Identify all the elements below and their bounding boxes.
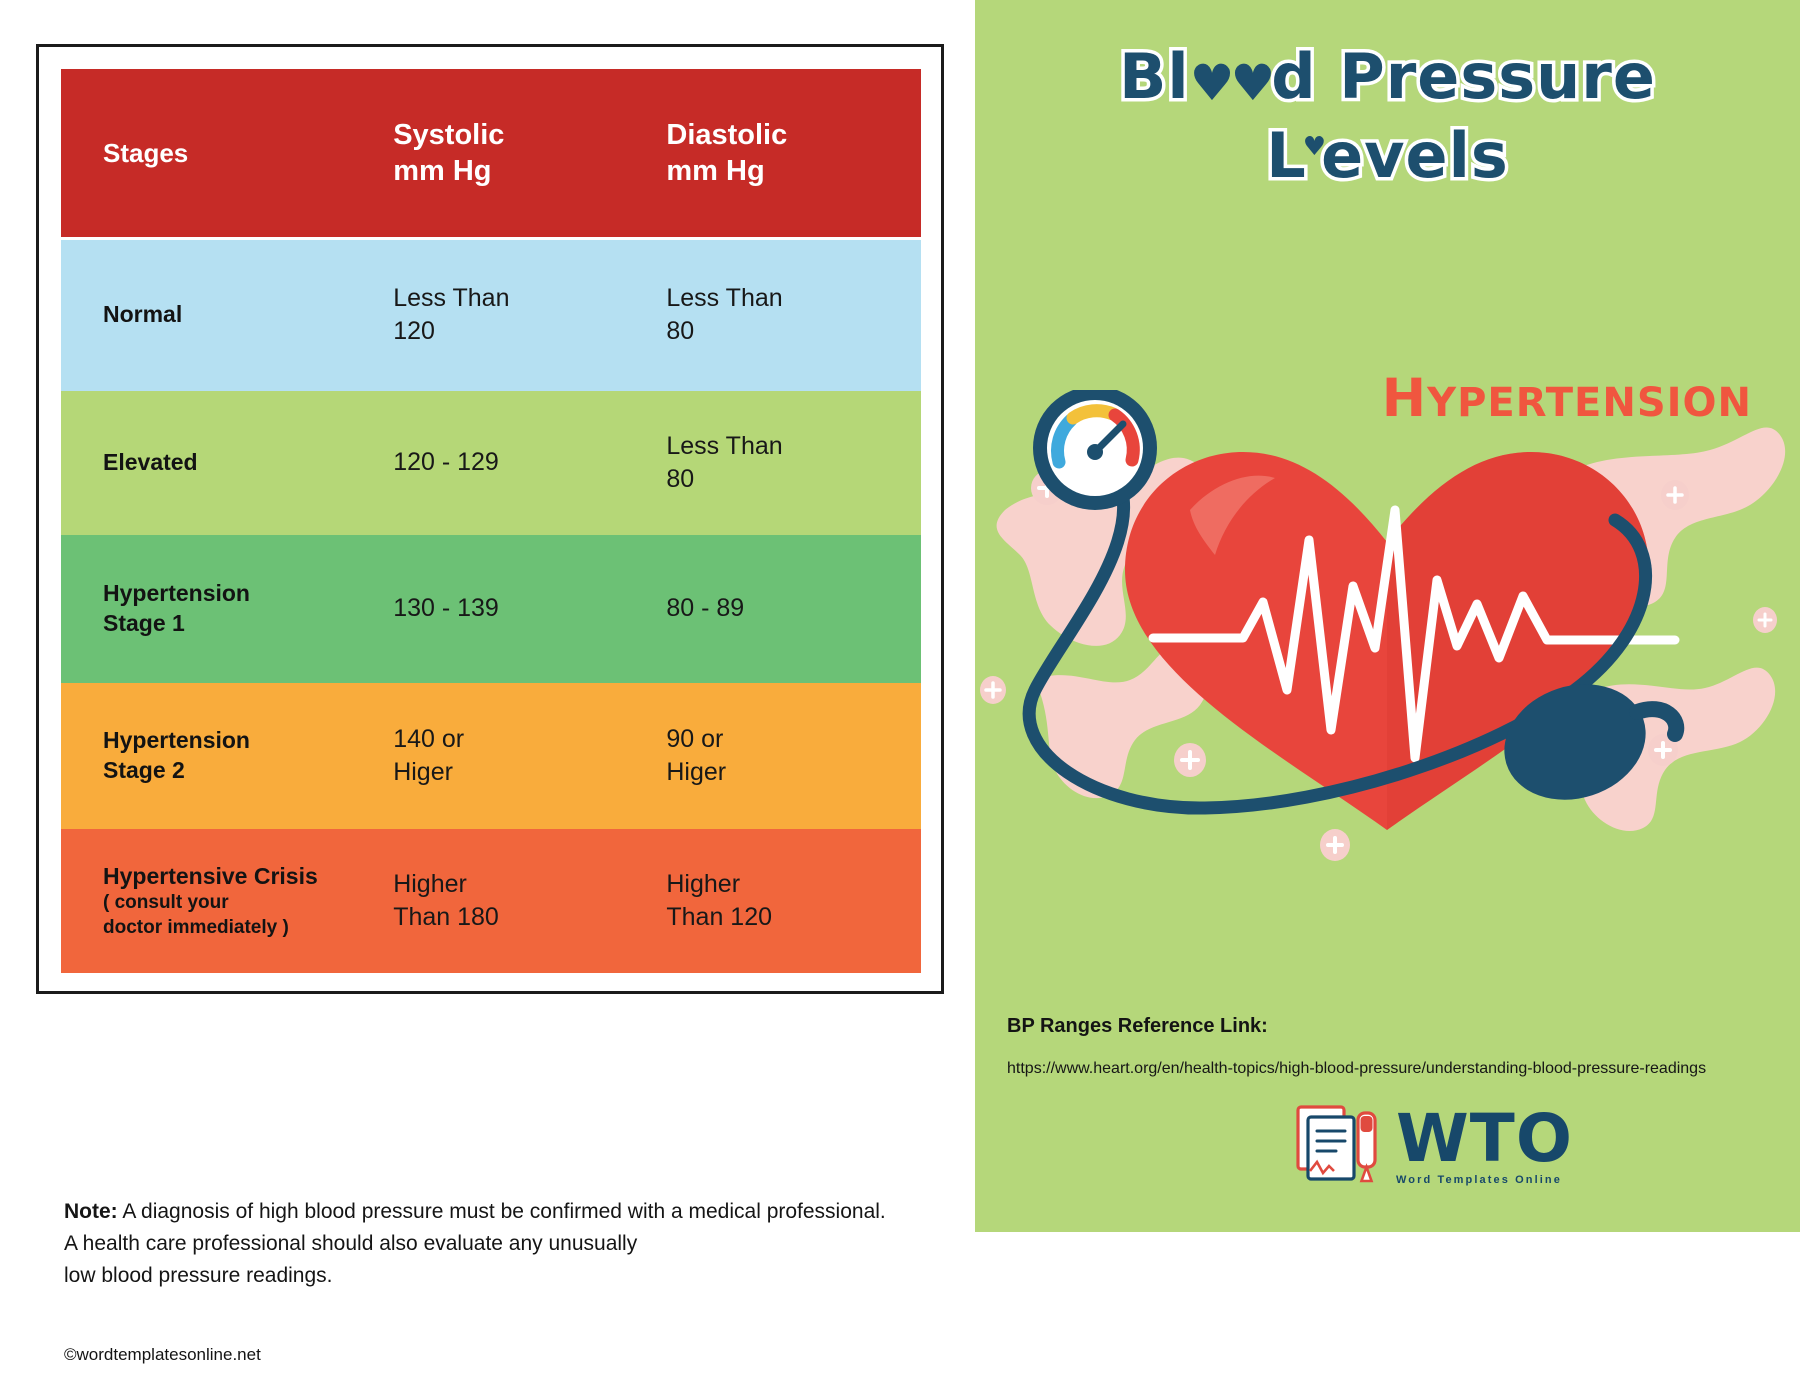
diastolic-line1: Less Than — [666, 430, 921, 463]
row-systolic: Higher Than 180 — [379, 868, 654, 934]
bp-table-frame: Stages Systolic mm Hg Diastolic mm Hg No… — [36, 44, 944, 994]
systolic-line1: 120 - 129 — [393, 446, 654, 479]
row-diastolic: Less Than 80 — [654, 430, 921, 496]
note-label: Note: — [64, 1200, 118, 1223]
stage-name: Hypertension — [103, 726, 379, 755]
poster-title: Bl♥♥d Pressure L♥evels — [975, 40, 1800, 192]
note-line1-text: A diagnosis of high blood pressure must … — [118, 1200, 886, 1223]
heart-illustration — [975, 390, 1800, 910]
stage-name: Hypertensive Crisis — [103, 862, 379, 891]
header-diastolic-line2: mm Hg — [666, 153, 921, 189]
table-row: Hypertensive Crisis ( consult your docto… — [61, 829, 921, 973]
gauge-arc-yellow — [1073, 411, 1113, 418]
stage-sub-line1: ( consult your — [103, 891, 379, 916]
header-diastolic: Diastolic mm Hg — [654, 117, 921, 190]
header-systolic-line2: mm Hg — [393, 153, 654, 189]
title-part-bl: Bl — [1119, 40, 1190, 113]
row-diastolic: 90 or Higer — [654, 723, 921, 789]
bp-table: Stages Systolic mm Hg Diastolic mm Hg No… — [61, 69, 921, 973]
diastolic-line1: 90 or — [666, 723, 921, 756]
wto-subtitle: Word Templates Online — [1396, 1174, 1573, 1186]
note-line1: Note: A diagnosis of high blood pressure… — [64, 1196, 894, 1228]
stage-sub: Stage 2 — [103, 756, 379, 785]
row-stage-label: Hypertensive Crisis ( consult your docto… — [61, 862, 379, 941]
wto-logo[interactable]: WTO Word Templates Online — [1290, 1092, 1710, 1202]
stage-name: Elevated — [103, 448, 379, 477]
row-diastolic: Higher Than 120 — [654, 868, 921, 934]
row-diastolic: 80 - 89 — [654, 592, 921, 625]
hypertension-heading: HYPERTENSION — [1382, 368, 1752, 429]
row-stage-label: Normal — [61, 300, 379, 329]
reference-title: BP Ranges Reference Link: — [1007, 1015, 1797, 1038]
diastolic-line1: Higher — [666, 868, 921, 901]
row-stage-label: Elevated — [61, 448, 379, 477]
diastolic-line2: Higer — [666, 756, 921, 789]
row-stage-label: Hypertension Stage 1 — [61, 579, 379, 638]
note-line3: low blood pressure readings. — [64, 1260, 894, 1292]
stage-sub-line2: doctor immediately ) — [103, 916, 379, 941]
note-line2: A health care professional should also e… — [64, 1228, 894, 1260]
systolic-line1: 130 - 139 — [393, 592, 654, 625]
header-systolic-line1: Systolic — [393, 117, 654, 153]
title-part-l: L — [1266, 119, 1307, 192]
table-row: Hypertension Stage 2 140 or Higer 90 or … — [61, 683, 921, 829]
table-row: Hypertension Stage 1 130 - 139 80 - 89 — [61, 535, 921, 683]
row-systolic: 130 - 139 — [379, 592, 654, 625]
title-part-evels: evels — [1321, 119, 1509, 192]
documents-icon — [1290, 1099, 1386, 1195]
systolic-line2: 120 — [393, 315, 654, 348]
table-header-row: Stages Systolic mm Hg Diastolic mm Hg — [61, 69, 921, 240]
systolic-line1: Less Than — [393, 282, 654, 315]
stage-name: Normal — [103, 300, 379, 329]
wto-text: WTO — [1396, 1108, 1573, 1171]
header-stages: Stages — [61, 137, 379, 170]
diastolic-line2: 80 — [666, 315, 921, 348]
header-systolic: Systolic mm Hg — [379, 117, 654, 190]
diastolic-line2: 80 — [666, 463, 921, 496]
reference-block: BP Ranges Reference Link: https://www.he… — [1007, 1015, 1797, 1078]
table-row: Normal Less Than 120 Less Than 80 — [61, 240, 921, 391]
hypertension-rest: YPERTENSION — [1427, 380, 1752, 426]
poster-root: Stages Systolic mm Hg Diastolic mm Hg No… — [0, 0, 1800, 1391]
systolic-line2: Than 180 — [393, 901, 654, 934]
diastolic-line2: Than 120 — [666, 901, 921, 934]
table-row: Elevated 120 - 129 Less Than 80 — [61, 391, 921, 535]
copyright-text: ©wordtemplatesonline.net — [64, 1345, 261, 1365]
systolic-line1: Higher — [393, 868, 654, 901]
note-text: Note: A diagnosis of high blood pressure… — [64, 1196, 894, 1292]
row-systolic: 140 or Higer — [379, 723, 654, 789]
row-stage-label: Hypertension Stage 2 — [61, 726, 379, 785]
title-line-2: L♥evels — [975, 119, 1800, 192]
right-panel: Bl♥♥d Pressure L♥evels HYPERTENSION — [975, 0, 1800, 1232]
diastolic-line1: Less Than — [666, 282, 921, 315]
row-systolic: Less Than 120 — [379, 282, 654, 348]
stage-sub: Stage 1 — [103, 609, 379, 638]
stage-name: Hypertension — [103, 579, 379, 608]
left-panel: Stages Systolic mm Hg Diastolic mm Hg No… — [0, 0, 975, 1391]
systolic-line2: Higer — [393, 756, 654, 789]
wto-wordmark: WTO Word Templates Online — [1396, 1108, 1573, 1186]
title-part-rest: d Pressure — [1271, 40, 1656, 113]
title-line-1: Bl♥♥d Pressure — [975, 40, 1800, 113]
systolic-line1: 140 or — [393, 723, 654, 756]
reference-url[interactable]: https://www.heart.org/en/health-topics/h… — [1007, 1060, 1797, 1078]
row-systolic: 120 - 129 — [379, 446, 654, 479]
header-diastolic-line1: Diastolic — [666, 117, 921, 153]
hypertension-initial: H — [1382, 368, 1427, 429]
gauge-pivot — [1087, 444, 1103, 460]
heart-icon: ♥♥ — [1190, 54, 1272, 113]
diastolic-line1: 80 - 89 — [666, 592, 921, 625]
row-diastolic: Less Than 80 — [654, 282, 921, 348]
